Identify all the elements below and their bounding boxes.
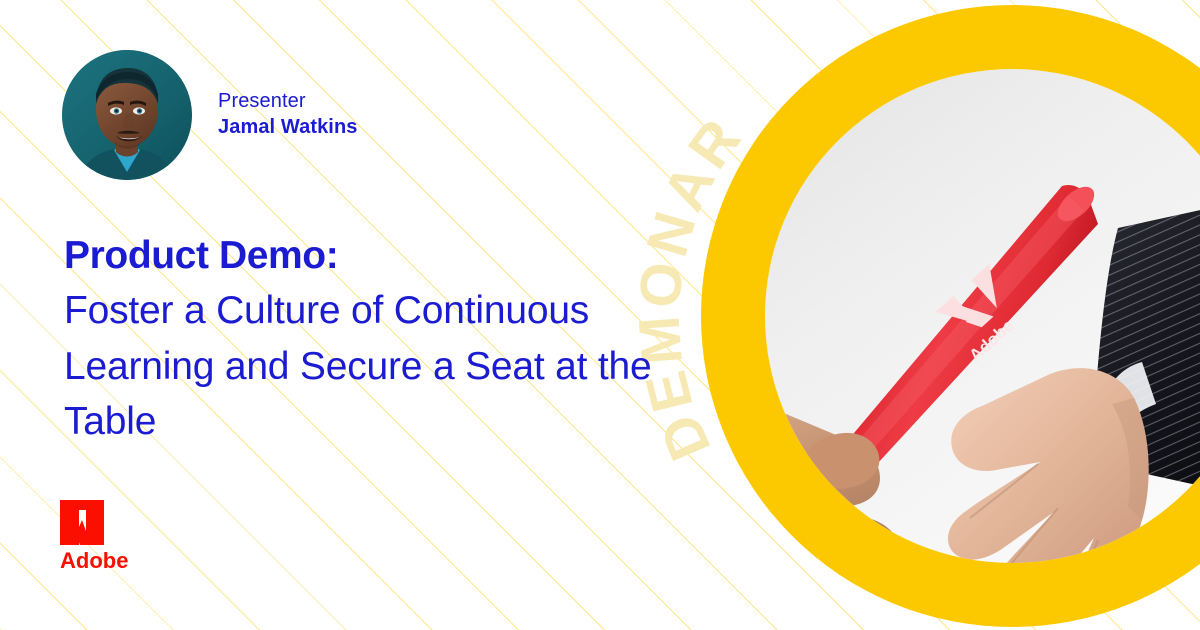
presenter-block: Presenter Jamal Watkins: [62, 50, 358, 180]
presenter-text: Presenter Jamal Watkins: [218, 89, 358, 140]
content-column: Presenter Jamal Watkins Product Demo: Fo…: [0, 0, 700, 630]
hero-photograph: Adobe: [704, 60, 1200, 624]
promo-card: Adobe DEMONAR: [0, 0, 1200, 630]
relay-baton: Adobe: [838, 180, 1100, 476]
presenter-name: Jamal Watkins: [218, 115, 358, 141]
adobe-wordmark: Adobe: [60, 548, 128, 573]
page-title: Product Demo: Foster a Culture of Contin…: [64, 228, 684, 450]
avatar-photo: [62, 50, 192, 180]
title-eyebrow: Product Demo:: [64, 228, 684, 283]
presenter-role-label: Presenter: [218, 89, 358, 115]
adobe-a-mark: [60, 500, 104, 545]
baton-wordmark: Adobe: [966, 316, 1018, 366]
avatar: [62, 50, 192, 180]
adobe-logo: Adobe: [58, 498, 178, 574]
title-body: Foster a Culture of Continuous Learning …: [64, 283, 684, 449]
